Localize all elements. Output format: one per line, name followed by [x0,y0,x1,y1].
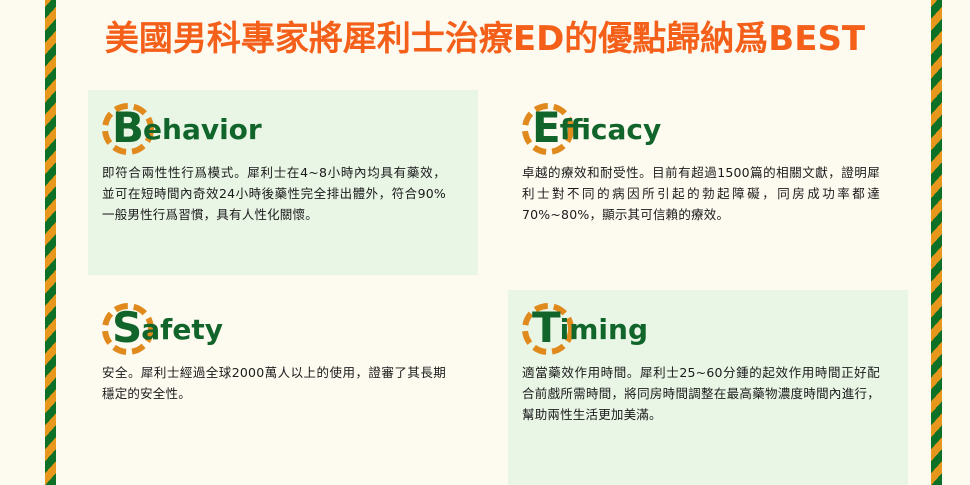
card-behavior-title: Behavior [112,106,262,152]
card-timing-body: 適當藥效作用時間。犀利士25~60分鍾的起效作用時間正好配合前戲所需時間，將同房… [508,362,908,425]
card-efficacy: Efficacy 卓越的療效和耐受性。目前有超過1500篇的相關文獻，證明犀利士… [508,90,908,275]
card-behavior-rest: ehavior [143,113,262,146]
card-safety-heading: Safety [88,290,478,362]
page-title: 美國男科專家將犀利士治療ED的優點歸納爲BEST [0,18,970,60]
card-behavior: Behavior 即符合兩性性行爲模式。犀利士在4~8小時內均具有藥效，並可在短… [88,90,478,275]
card-safety: Safety 安全。犀利士經過全球2000萬人以上的使用，證審了其長期穩定的安全… [88,290,478,485]
left-striped-border [45,0,56,485]
card-safety-initial: S [112,303,141,352]
card-timing-heading: Timing [508,290,908,362]
card-safety-rest: afety [141,313,223,346]
card-timing-initial: T [532,303,560,352]
card-timing-title: Timing [532,306,648,352]
card-timing: Timing 適當藥效作用時間。犀利士25~60分鍾的起效作用時間正好配合前戲所… [508,290,908,485]
card-timing-rest: iming [560,313,648,346]
right-striped-border [931,0,942,485]
card-efficacy-rest: fficacy [560,113,662,146]
card-behavior-initial: B [112,103,143,152]
card-efficacy-heading: Efficacy [508,90,908,162]
card-efficacy-title: Efficacy [532,106,661,152]
card-efficacy-body: 卓越的療效和耐受性。目前有超過1500篇的相關文獻，證明犀利士對不同的病因所引起… [508,162,908,225]
card-behavior-heading: Behavior [88,90,478,162]
card-efficacy-initial: E [532,103,560,152]
card-safety-title: Safety [112,306,223,352]
card-safety-body: 安全。犀利士經過全球2000萬人以上的使用，證審了其長期穩定的安全性。 [88,362,478,404]
page-root: 美國男科專家將犀利士治療ED的優點歸納爲BEST Behavior 即符合兩性性… [0,0,970,485]
card-behavior-body: 即符合兩性性行爲模式。犀利士在4~8小時內均具有藥效，並可在短時間內奇效24小時… [88,162,478,225]
